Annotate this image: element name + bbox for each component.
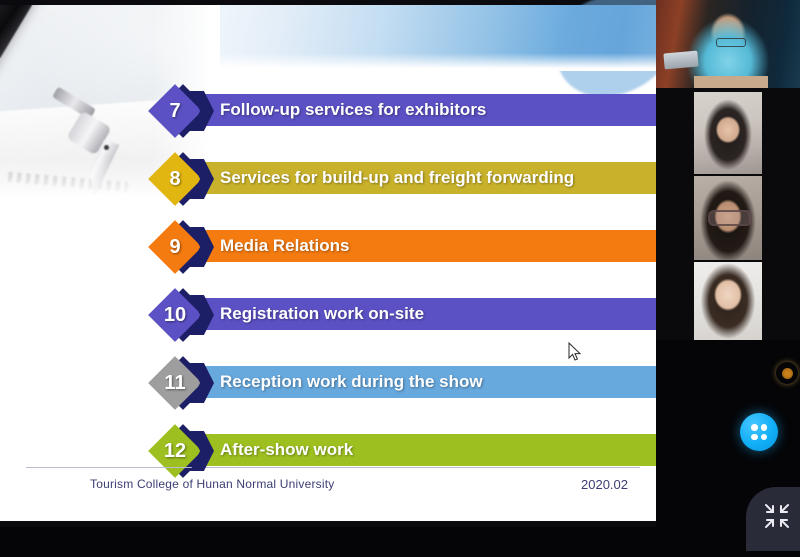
item-label: Registration work on-site — [220, 304, 424, 324]
participant-video-2 — [694, 92, 762, 174]
item-number: 10 — [150, 296, 200, 334]
slide-footer: Tourism College of Hunan Normal Universi… — [26, 467, 640, 501]
apps-grid-button[interactable] — [740, 413, 778, 451]
item-bar: Reception work during the show — [202, 366, 656, 398]
footer-date: 2020.02 — [581, 477, 628, 492]
item-bar: Registration work on-site — [202, 298, 656, 330]
tile1-background-papers — [663, 51, 698, 70]
participant-filmstrip[interactable] — [656, 0, 800, 340]
collapse-view-button[interactable] — [746, 487, 800, 551]
slide-item-row: Services for build-up and freight forwar… — [150, 156, 640, 206]
slide-item-row: Follow-up services for exhibitors7 — [150, 88, 640, 138]
item-label: Follow-up services for exhibitors — [220, 100, 486, 120]
award-medal-icon[interactable] — [776, 362, 798, 384]
shared-screen-slide[interactable]: Follow-up services for exhibitors7Servic… — [0, 0, 656, 527]
slide-item-row: Media Relations9 — [150, 224, 640, 274]
footer-divider — [26, 467, 640, 468]
apps-grid-dot — [761, 424, 768, 431]
apps-grid-dot — [751, 434, 758, 441]
tile1-glasses — [716, 38, 746, 47]
item-number: 9 — [150, 228, 200, 266]
footer-organization: Tourism College of Hunan Normal Universi… — [90, 477, 335, 491]
item-number: 7 — [150, 92, 200, 130]
item-number: 12 — [150, 432, 200, 470]
slide-chevron-list: Follow-up services for exhibitors7Servic… — [150, 88, 640, 496]
item-label: After-show work — [220, 440, 353, 460]
apps-grid-icon — [740, 413, 778, 451]
item-bar: Services for build-up and freight forwar… — [202, 162, 656, 194]
tile1-desk — [694, 76, 768, 88]
item-bar: Follow-up services for exhibitors — [202, 94, 656, 126]
item-label: Reception work during the show — [220, 372, 483, 392]
item-bar: Media Relations — [202, 230, 656, 262]
meeting-window: Follow-up services for exhibitors7Servic… — [0, 0, 800, 557]
apps-grid-dot — [761, 434, 768, 441]
slide-item-row: Registration work on-site10 — [150, 292, 640, 342]
item-label: Media Relations — [220, 236, 349, 256]
participant-tile-1[interactable] — [656, 0, 800, 88]
collapse-arrows-icon — [764, 503, 790, 529]
participant-tile-4[interactable] — [694, 262, 762, 340]
tile3-glasses — [708, 210, 752, 226]
item-label: Services for build-up and freight forwar… — [220, 168, 574, 188]
item-number: 8 — [150, 160, 200, 198]
participant-video-4 — [694, 262, 762, 340]
slide-item-row: Reception work during the show11 — [150, 360, 640, 410]
meeting-bottom-strip — [0, 527, 656, 557]
award-medal-center — [782, 368, 793, 379]
apps-grid-dot — [751, 424, 758, 431]
item-number: 11 — [150, 364, 200, 402]
participant-tile-2[interactable] — [694, 92, 762, 174]
participant-tile-3[interactable] — [694, 176, 762, 260]
item-bar: After-show work — [202, 434, 656, 466]
